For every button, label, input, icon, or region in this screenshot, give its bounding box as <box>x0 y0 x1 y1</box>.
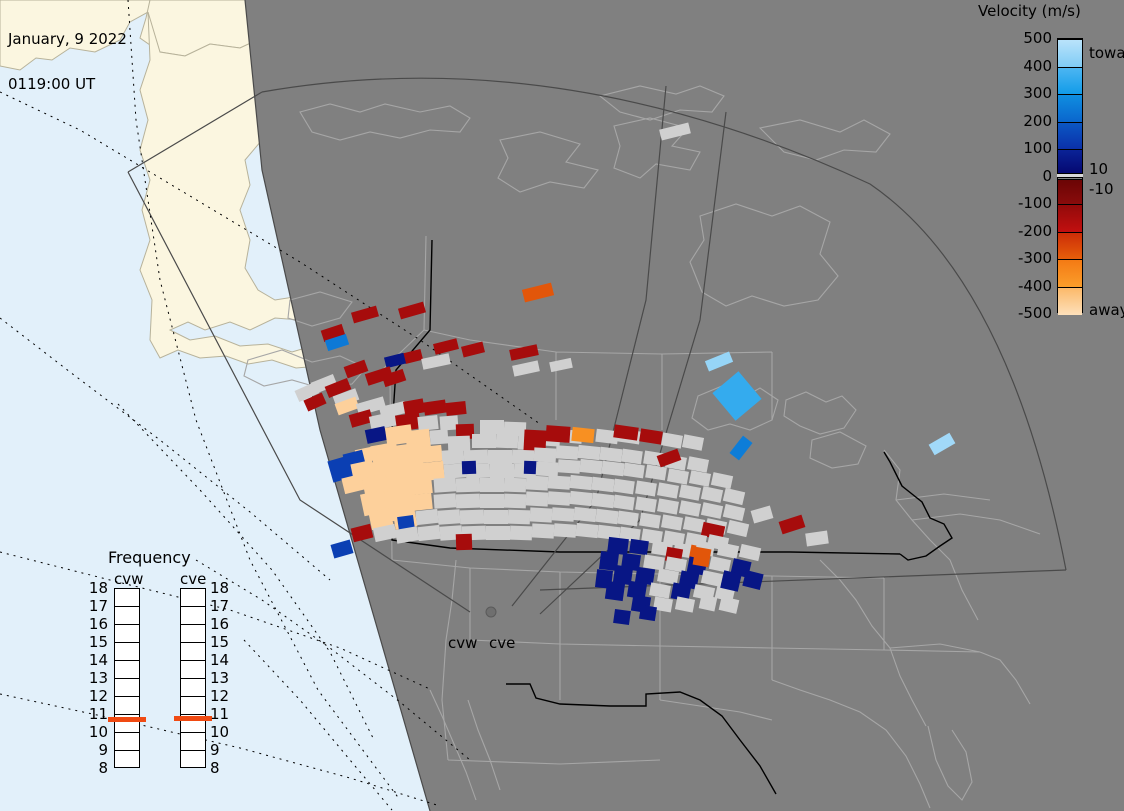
colorbar-threshold-positive: 10 <box>1089 160 1108 178</box>
velocity-cell <box>719 596 740 614</box>
velocity-cell <box>579 459 602 474</box>
frequency-tick-cvw-8: 8 <box>86 759 108 777</box>
frequency-gridline <box>114 750 140 751</box>
velocity-cell <box>723 488 745 505</box>
velocity-cell <box>536 461 559 476</box>
frequency-tick-cvw-14: 14 <box>86 651 108 669</box>
velocity-cell <box>613 495 635 511</box>
frequency-tick-cve-15: 15 <box>210 633 229 651</box>
velocity-cell <box>456 534 473 551</box>
velocity-cell <box>504 478 526 493</box>
velocity-cell <box>508 510 530 525</box>
colorbar-band-7 <box>1058 232 1082 261</box>
colorbar-label-toward: toward <box>1089 44 1124 62</box>
frequency-tick-cvw-9: 9 <box>86 741 108 759</box>
velocity-cell <box>434 493 457 509</box>
velocity-cell <box>712 371 761 420</box>
velocity-cell <box>613 479 635 495</box>
colorbar-tick-500: 500 <box>1000 29 1052 47</box>
velocity-cell <box>421 353 451 370</box>
frequency-gridline <box>180 732 206 733</box>
velocity-cell <box>605 581 625 601</box>
velocity-cell <box>575 523 598 538</box>
frequency-gridline <box>180 642 206 643</box>
velocity-cell <box>403 349 423 364</box>
velocity-cell <box>601 461 624 477</box>
colorbar-tick--500: -500 <box>1000 304 1052 322</box>
velocity-cell <box>504 494 526 509</box>
velocity-cell <box>613 609 631 625</box>
velocity-cell <box>617 511 639 527</box>
colorbar-band-1 <box>1058 67 1082 96</box>
frequency-tick-cve-8: 8 <box>210 759 220 777</box>
velocity-cell <box>341 474 364 494</box>
colorbar-tick--300: -300 <box>1000 249 1052 267</box>
colorbar-band-5 <box>1058 179 1082 205</box>
velocity-cell <box>430 429 449 444</box>
frequency-tick-cve-18: 18 <box>210 579 229 597</box>
velocity-cell <box>645 465 667 481</box>
velocity-cell <box>510 526 532 541</box>
colorbar-tick-0: 0 <box>1000 167 1052 185</box>
velocity-cell <box>720 570 742 592</box>
velocity-cell <box>490 464 514 478</box>
velocity-cell <box>577 445 600 460</box>
velocity-cell <box>929 433 956 455</box>
velocity-cell <box>532 523 555 538</box>
frequency-gridline <box>180 660 206 661</box>
velocity-cell <box>639 428 663 444</box>
velocity-cell-layer <box>0 0 1124 811</box>
frequency-panel-title: Frequency <box>108 548 191 567</box>
colorbar-title: Velocity (m/s) <box>978 2 1081 20</box>
frequency-tick-cvw-17: 17 <box>86 597 108 615</box>
frequency-tick-cvw-10: 10 <box>86 723 108 741</box>
velocity-cell <box>739 544 761 561</box>
colorbar-label-away: away <box>1089 301 1124 319</box>
velocity-cell <box>415 509 438 525</box>
velocity-cell <box>480 494 504 508</box>
colorbar-tick-100: 100 <box>1000 139 1052 157</box>
velocity-cell <box>639 605 657 621</box>
velocity-cell <box>395 526 419 544</box>
colorbar-band-3 <box>1058 122 1082 151</box>
velocity-cell <box>779 515 806 535</box>
velocity-cell <box>682 434 704 451</box>
colorbar-tick-300: 300 <box>1000 84 1052 102</box>
colorbar-tick-200: 200 <box>1000 112 1052 130</box>
velocity-cell <box>751 505 774 523</box>
colorbar-tick--200: -200 <box>1000 222 1052 240</box>
velocity-cell <box>486 526 510 540</box>
velocity-cell <box>526 475 549 490</box>
velocity-cell <box>526 491 549 506</box>
velocity-cell <box>661 514 683 530</box>
velocity-cell <box>659 123 691 141</box>
frequency-gridline <box>114 660 140 661</box>
velocity-cell <box>330 540 353 559</box>
frequency-gridline <box>180 624 206 625</box>
velocity-cell <box>433 338 459 354</box>
velocity-cell <box>496 434 518 449</box>
velocity-cell <box>699 594 718 611</box>
velocity-cell <box>548 475 571 490</box>
velocity-cell <box>639 513 661 529</box>
velocity-cell <box>522 283 554 303</box>
radar-velocity-map: January, 9 2022 0119:00 UT Velocity (m/s… <box>0 0 1124 811</box>
velocity-cell <box>472 434 496 448</box>
velocity-cell <box>591 493 614 509</box>
frequency-gridline <box>180 696 206 697</box>
colorbar-threshold-negative: -10 <box>1089 180 1114 198</box>
velocity-cell <box>657 482 679 498</box>
frequency-tick-cve-13: 13 <box>210 669 229 687</box>
velocity-cell <box>679 484 701 501</box>
frequency-column-header-cve: cve <box>180 570 206 588</box>
velocity-cell <box>545 425 570 443</box>
velocity-cell <box>351 306 379 324</box>
velocity-cell <box>711 472 733 489</box>
frequency-gridline <box>114 606 140 607</box>
velocity-cell <box>569 475 592 490</box>
velocity-cell <box>657 498 679 514</box>
velocity-cell <box>417 525 440 541</box>
frequency-tick-cvw-11: 11 <box>86 705 108 723</box>
colorbar-band-8 <box>1058 259 1082 288</box>
velocity-cell <box>554 523 577 538</box>
frequency-gridline <box>114 624 140 625</box>
colorbar-tick-400: 400 <box>1000 57 1052 75</box>
velocity-cell <box>727 520 749 537</box>
velocity-cell <box>623 463 645 479</box>
frequency-gridline <box>114 642 140 643</box>
frequency-tick-cve-14: 14 <box>210 651 229 669</box>
velocity-cell <box>558 459 581 474</box>
site-label-cvw: cvw <box>448 634 477 652</box>
velocity-cell <box>667 468 689 484</box>
frequency-gridline <box>180 606 206 607</box>
velocity-cell <box>461 342 485 358</box>
colorbar-band-9 <box>1058 287 1082 316</box>
frequency-gridline <box>180 678 206 679</box>
frequency-gridline <box>180 750 206 751</box>
site-label-cve: cve <box>489 634 515 652</box>
velocity-cell <box>693 547 712 568</box>
velocity-cell <box>398 302 426 320</box>
frequency-tick-cve-17: 17 <box>210 597 229 615</box>
frequency-tick-cvw-16: 16 <box>86 615 108 633</box>
velocity-cell <box>805 531 829 547</box>
velocity-cell <box>723 504 745 521</box>
velocity-cell <box>351 524 374 542</box>
velocity-cell <box>438 509 461 525</box>
colorbar-tick--400: -400 <box>1000 277 1052 295</box>
colorbar-zero-band <box>1057 173 1083 179</box>
frequency-gridline <box>114 678 140 679</box>
frequency-tick-cvw-12: 12 <box>86 687 108 705</box>
timestamp-block: January, 9 2022 0119:00 UT <box>8 2 127 122</box>
velocity-cell <box>701 486 723 503</box>
frequency-marker-cve <box>174 716 212 721</box>
colorbar-band-6 <box>1058 204 1082 233</box>
velocity-cell <box>742 570 763 590</box>
frequency-marker-cvw <box>108 717 146 722</box>
colorbar-band-2 <box>1058 94 1082 123</box>
velocity-cell <box>530 507 553 522</box>
velocity-cell <box>635 497 657 513</box>
frequency-tick-cve-10: 10 <box>210 723 229 741</box>
velocity-cell <box>649 582 671 598</box>
velocity-cell <box>661 432 683 448</box>
velocity-cell <box>689 470 711 487</box>
velocity-cell <box>512 360 540 376</box>
velocity-cell <box>488 450 512 464</box>
velocity-cell <box>571 427 594 443</box>
velocity-cell <box>701 502 723 519</box>
velocity-cell <box>484 510 508 524</box>
velocity-cell <box>480 478 504 492</box>
velocity-cell <box>675 596 695 612</box>
velocity-cell <box>462 461 476 474</box>
frequency-gridline <box>114 714 140 715</box>
velocity-cell <box>456 478 480 493</box>
velocity-cell <box>679 500 701 517</box>
colorbar-band-0 <box>1058 39 1082 68</box>
frequency-gridline <box>114 732 140 733</box>
frequency-tick-cve-12: 12 <box>210 687 229 705</box>
velocity-cell <box>556 445 579 460</box>
frequency-gridline <box>114 696 140 697</box>
frequency-tick-cve-9: 9 <box>210 741 220 759</box>
velocity-cell <box>705 352 733 372</box>
velocity-cell <box>629 539 649 555</box>
velocity-cell <box>423 400 447 416</box>
velocity-cell <box>635 481 657 497</box>
frequency-gridline <box>180 714 206 715</box>
frequency-tick-cvw-13: 13 <box>86 669 108 687</box>
frequency-tick-cve-11: 11 <box>210 705 229 723</box>
velocity-cell <box>591 477 614 493</box>
velocity-cell <box>480 420 504 434</box>
velocity-cell <box>434 477 457 493</box>
velocity-cell <box>460 510 484 525</box>
frequency-tick-cvw-18: 18 <box>86 579 108 597</box>
colorbar-tick--100: -100 <box>1000 194 1052 212</box>
velocity-cell <box>717 542 739 559</box>
frequency-tick-cvw-15: 15 <box>86 633 108 651</box>
velocity-cell <box>549 358 573 372</box>
velocity-cell <box>509 344 539 361</box>
velocity-cell <box>569 491 592 506</box>
timestamp-time: 0119:00 UT <box>8 77 127 92</box>
colorbar-band-4 <box>1058 149 1082 175</box>
velocity-cell <box>595 509 618 525</box>
velocity-cell <box>456 494 480 509</box>
velocity-cell <box>445 401 466 416</box>
velocity-cell <box>573 507 596 522</box>
velocity-cell <box>373 524 397 542</box>
velocity-cell <box>548 491 571 506</box>
velocity-cell <box>552 507 575 522</box>
timestamp-date: January, 9 2022 <box>8 32 127 47</box>
frequency-tick-cve-16: 16 <box>210 615 229 633</box>
frequency-column-header-cvw: cvw <box>114 570 143 588</box>
velocity-cell <box>729 436 752 461</box>
velocity-cell <box>365 426 387 444</box>
